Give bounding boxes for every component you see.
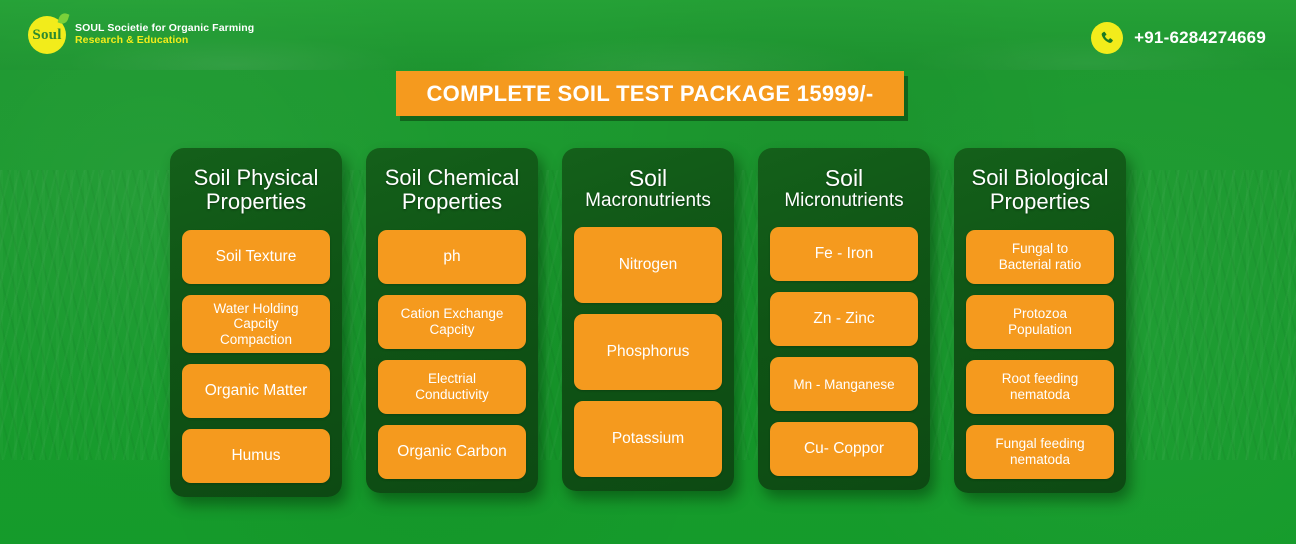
- test-item-label: Mn - Manganese: [793, 377, 894, 393]
- test-item-chip[interactable]: Mn - Manganese: [770, 357, 918, 411]
- brand-text: SOUL Societie for Organic Farming Resear…: [75, 23, 254, 47]
- test-item-label: Nitrogen: [619, 256, 678, 274]
- test-item-label: Fungal feeding: [995, 436, 1084, 452]
- package-title-banner: COMPLETE SOIL TEST PACKAGE 15999/-: [396, 71, 904, 116]
- phone-number: +91-6284274669: [1134, 28, 1266, 48]
- test-item-label: Cation Exchange: [401, 306, 504, 322]
- category-card-soil-chemical-properties: Soil ChemicalPropertiesphCation Exchange…: [366, 148, 538, 493]
- test-item-label: Capcity: [213, 316, 298, 332]
- test-item-chip[interactable]: ElectrialConductivity: [378, 360, 526, 414]
- category-card-soil-physical-properties: Soil PhysicalPropertiesSoil TextureWater…: [170, 148, 342, 497]
- category-title: SoilMicronutrients: [770, 166, 918, 211]
- category-card-soil-biological-properties: Soil BiologicalPropertiesFungal toBacter…: [954, 148, 1126, 493]
- test-item-label: nematoda: [1002, 387, 1079, 403]
- test-item-label: Electrial: [415, 371, 489, 387]
- test-item-label: Water Holding: [213, 301, 298, 317]
- category-title: SoilMacronutrients: [574, 166, 722, 211]
- test-item-list: Fungal toBacterial ratioProtozoaPopulati…: [966, 230, 1114, 479]
- category-title: Soil BiologicalProperties: [966, 166, 1114, 214]
- package-title: COMPLETE SOIL TEST PACKAGE 15999/-: [426, 81, 873, 107]
- test-item-list: Fe - IronZn - ZincMn - ManganeseCu- Copp…: [770, 227, 918, 476]
- test-item-chip[interactable]: Nitrogen: [574, 227, 722, 303]
- test-item-label: Organic Matter: [205, 382, 308, 400]
- test-item-label: Conductivity: [415, 387, 489, 403]
- test-item-chip[interactable]: Cu- Coppor: [770, 422, 918, 476]
- category-title-line: Properties: [378, 190, 526, 214]
- test-item-label: Fungal to: [999, 241, 1082, 257]
- logo-wordmark: Soul: [32, 27, 61, 44]
- category-card-soil-micronutrients: SoilMicronutrientsFe - IronZn - ZincMn -…: [758, 148, 930, 490]
- test-item-label: Phosphorus: [607, 343, 690, 361]
- test-item-chip[interactable]: Water HoldingCapcityCompaction: [182, 295, 330, 354]
- test-item-label: nematoda: [995, 452, 1084, 468]
- test-item-label: Cu- Coppor: [804, 440, 884, 458]
- contact-block[interactable]: +91-6284274669: [1091, 22, 1266, 54]
- poster-root: Soul SOUL Societie for Organic Farming R…: [0, 0, 1296, 544]
- test-item-chip[interactable]: Root feedingnematoda: [966, 360, 1114, 414]
- test-item-chip[interactable]: ph: [378, 230, 526, 284]
- test-item-list: phCation ExchangeCapcityElectrialConduct…: [378, 230, 526, 479]
- test-item-chip[interactable]: Zn - Zinc: [770, 292, 918, 346]
- test-item-label: Zn - Zinc: [813, 310, 874, 328]
- test-item-label: Root feeding: [1002, 371, 1079, 387]
- test-item-label: Bacterial ratio: [999, 257, 1082, 273]
- category-title-line: Soil: [770, 166, 918, 191]
- test-item-chip[interactable]: Fe - Iron: [770, 227, 918, 281]
- category-title-line: Soil Chemical: [378, 166, 526, 190]
- category-title-line: Micronutrients: [770, 191, 918, 212]
- brand-logo[interactable]: Soul SOUL Societie for Organic Farming R…: [28, 16, 254, 54]
- header: Soul SOUL Societie for Organic Farming R…: [0, 0, 1296, 72]
- test-item-chip[interactable]: Fungal toBacterial ratio: [966, 230, 1114, 284]
- test-item-chip[interactable]: ProtozoaPopulation: [966, 295, 1114, 349]
- category-title: Soil PhysicalProperties: [182, 166, 330, 214]
- test-item-chip[interactable]: Organic Carbon: [378, 425, 526, 479]
- category-title-line: Soil Biological: [966, 166, 1114, 190]
- test-item-label: Fe - Iron: [815, 245, 874, 263]
- category-columns: Soil PhysicalPropertiesSoil TextureWater…: [0, 148, 1296, 497]
- category-title-line: Properties: [182, 190, 330, 214]
- test-item-list: Soil TextureWater HoldingCapcityCompacti…: [182, 230, 330, 484]
- test-item-chip[interactable]: Cation ExchangeCapcity: [378, 295, 526, 349]
- test-item-label: Capcity: [401, 322, 504, 338]
- phone-icon: [1091, 22, 1123, 54]
- test-item-label: ph: [443, 248, 460, 266]
- test-item-label: Soil Texture: [216, 248, 297, 266]
- test-item-label: Population: [1008, 322, 1072, 338]
- test-item-label: Organic Carbon: [397, 443, 506, 461]
- test-item-chip[interactable]: Phosphorus: [574, 314, 722, 390]
- category-title-line: Properties: [966, 190, 1114, 214]
- test-item-label: Protozoa: [1008, 306, 1072, 322]
- test-item-chip[interactable]: Humus: [182, 429, 330, 483]
- category-title-line: Soil: [574, 166, 722, 191]
- brand-line-2: Research & Education: [75, 35, 254, 47]
- test-item-chip[interactable]: Fungal feedingnematoda: [966, 425, 1114, 479]
- test-item-label: Humus: [231, 447, 280, 465]
- test-item-chip[interactable]: Soil Texture: [182, 230, 330, 284]
- test-item-label: Potassium: [612, 430, 684, 448]
- test-item-list: NitrogenPhosphorusPotassium: [574, 227, 722, 477]
- test-item-label: Compaction: [213, 332, 298, 348]
- category-title: Soil ChemicalProperties: [378, 166, 526, 214]
- category-title-line: Soil Physical: [182, 166, 330, 190]
- test-item-chip[interactable]: Potassium: [574, 401, 722, 477]
- category-title-line: Macronutrients: [574, 191, 722, 212]
- leaf-icon: [58, 12, 70, 25]
- test-item-chip[interactable]: Organic Matter: [182, 364, 330, 418]
- category-card-soil-macronutrients: SoilMacronutrientsNitrogenPhosphorusPota…: [562, 148, 734, 491]
- soul-logo-icon: Soul: [28, 16, 66, 54]
